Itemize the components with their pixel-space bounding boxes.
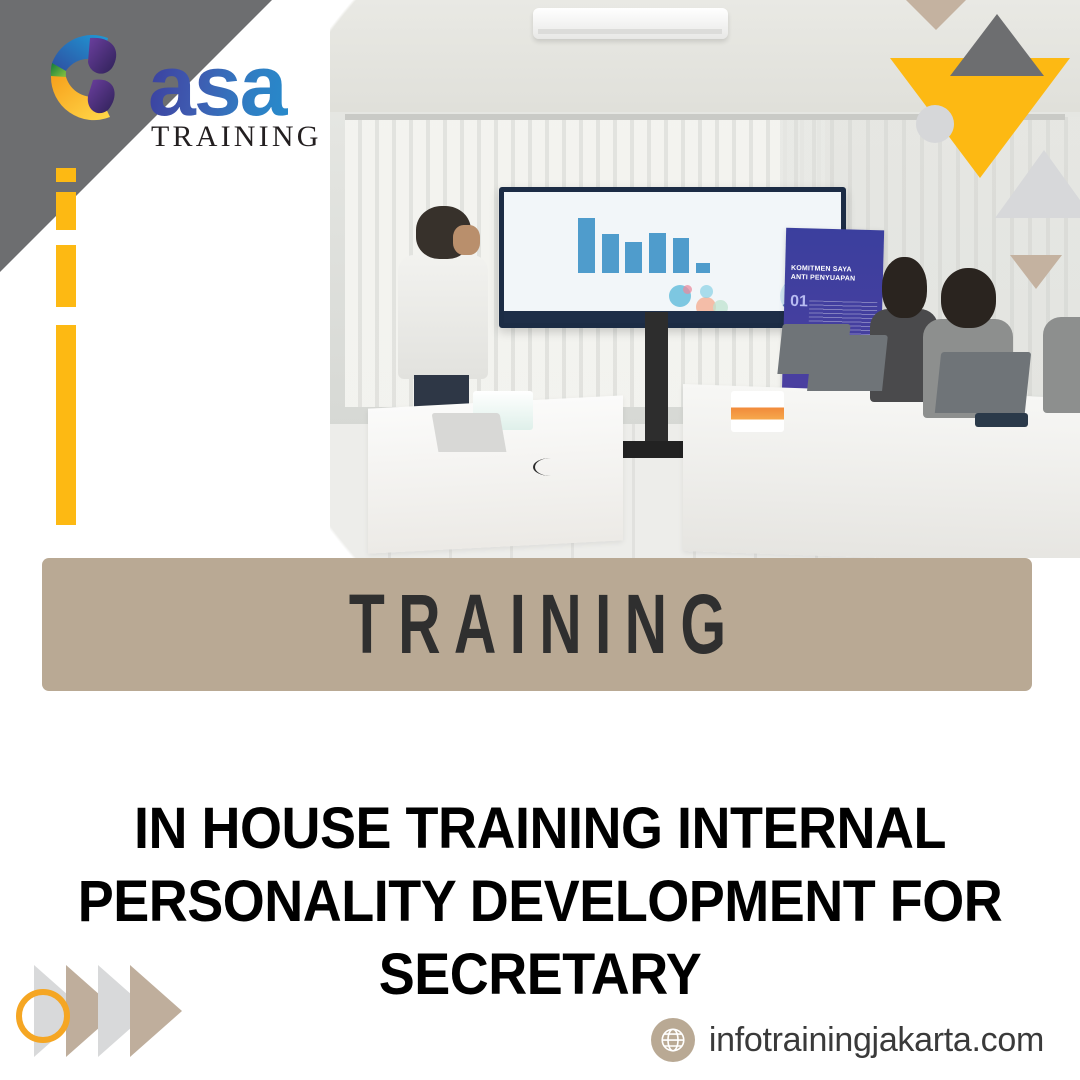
website-url[interactable]: infotrainingjakarta.com xyxy=(709,1021,1044,1060)
arrow-right-icon-4 xyxy=(130,965,182,1057)
accent-bar-3 xyxy=(56,245,76,307)
photo-participant-3 xyxy=(1043,290,1080,413)
photo-screen-stand xyxy=(645,312,668,446)
poster-heading: KOMITMEN SAYA ANTI PENYUAPAN xyxy=(790,264,878,284)
training-banner-label: TRAINING xyxy=(335,576,739,673)
grey-triangle-up-icon xyxy=(950,14,1044,76)
orange-circle-outline-icon xyxy=(16,989,70,1043)
photo-laptop-4 xyxy=(432,413,506,452)
light-grey-triangle-up-icon xyxy=(995,150,1080,218)
grey-circle-icon xyxy=(916,105,954,143)
brand-logo: asa TRAINING xyxy=(36,22,356,172)
training-banner: TRAINING xyxy=(42,558,1032,691)
small-tan-triangle-down-icon xyxy=(1010,255,1062,289)
poster-number-1: 01 xyxy=(790,293,808,311)
accent-bar-2 xyxy=(56,192,76,230)
circular-c-logo-icon xyxy=(36,22,158,156)
title-line-1: IN HOUSE TRAINING INTERNAL xyxy=(75,792,1005,865)
logo-name: asa xyxy=(148,50,322,124)
photo-laptop-2 xyxy=(807,335,888,391)
photo-presenter xyxy=(398,206,488,407)
logo-wordmark: asa TRAINING xyxy=(148,50,322,154)
photo-air-conditioner xyxy=(533,8,728,39)
poster-canvas: KOMITMEN SAYA ANTI PENYUAPAN 01 02 xyxy=(0,0,1080,1080)
website-footer[interactable]: infotrainingjakarta.com xyxy=(651,1018,1044,1062)
photo-cable xyxy=(533,458,569,476)
accent-bar-4 xyxy=(56,325,76,525)
photo-phone xyxy=(975,413,1028,427)
photo-tissue-box-2 xyxy=(731,391,784,433)
arrow-decoration xyxy=(8,965,228,1065)
globe-icon xyxy=(651,1018,695,1062)
photo-laptop-3 xyxy=(934,352,1030,413)
title-line-2: PERSONALITY DEVELOPMENT FOR xyxy=(75,865,1005,938)
logo-subtitle: TRAINING xyxy=(148,120,322,154)
